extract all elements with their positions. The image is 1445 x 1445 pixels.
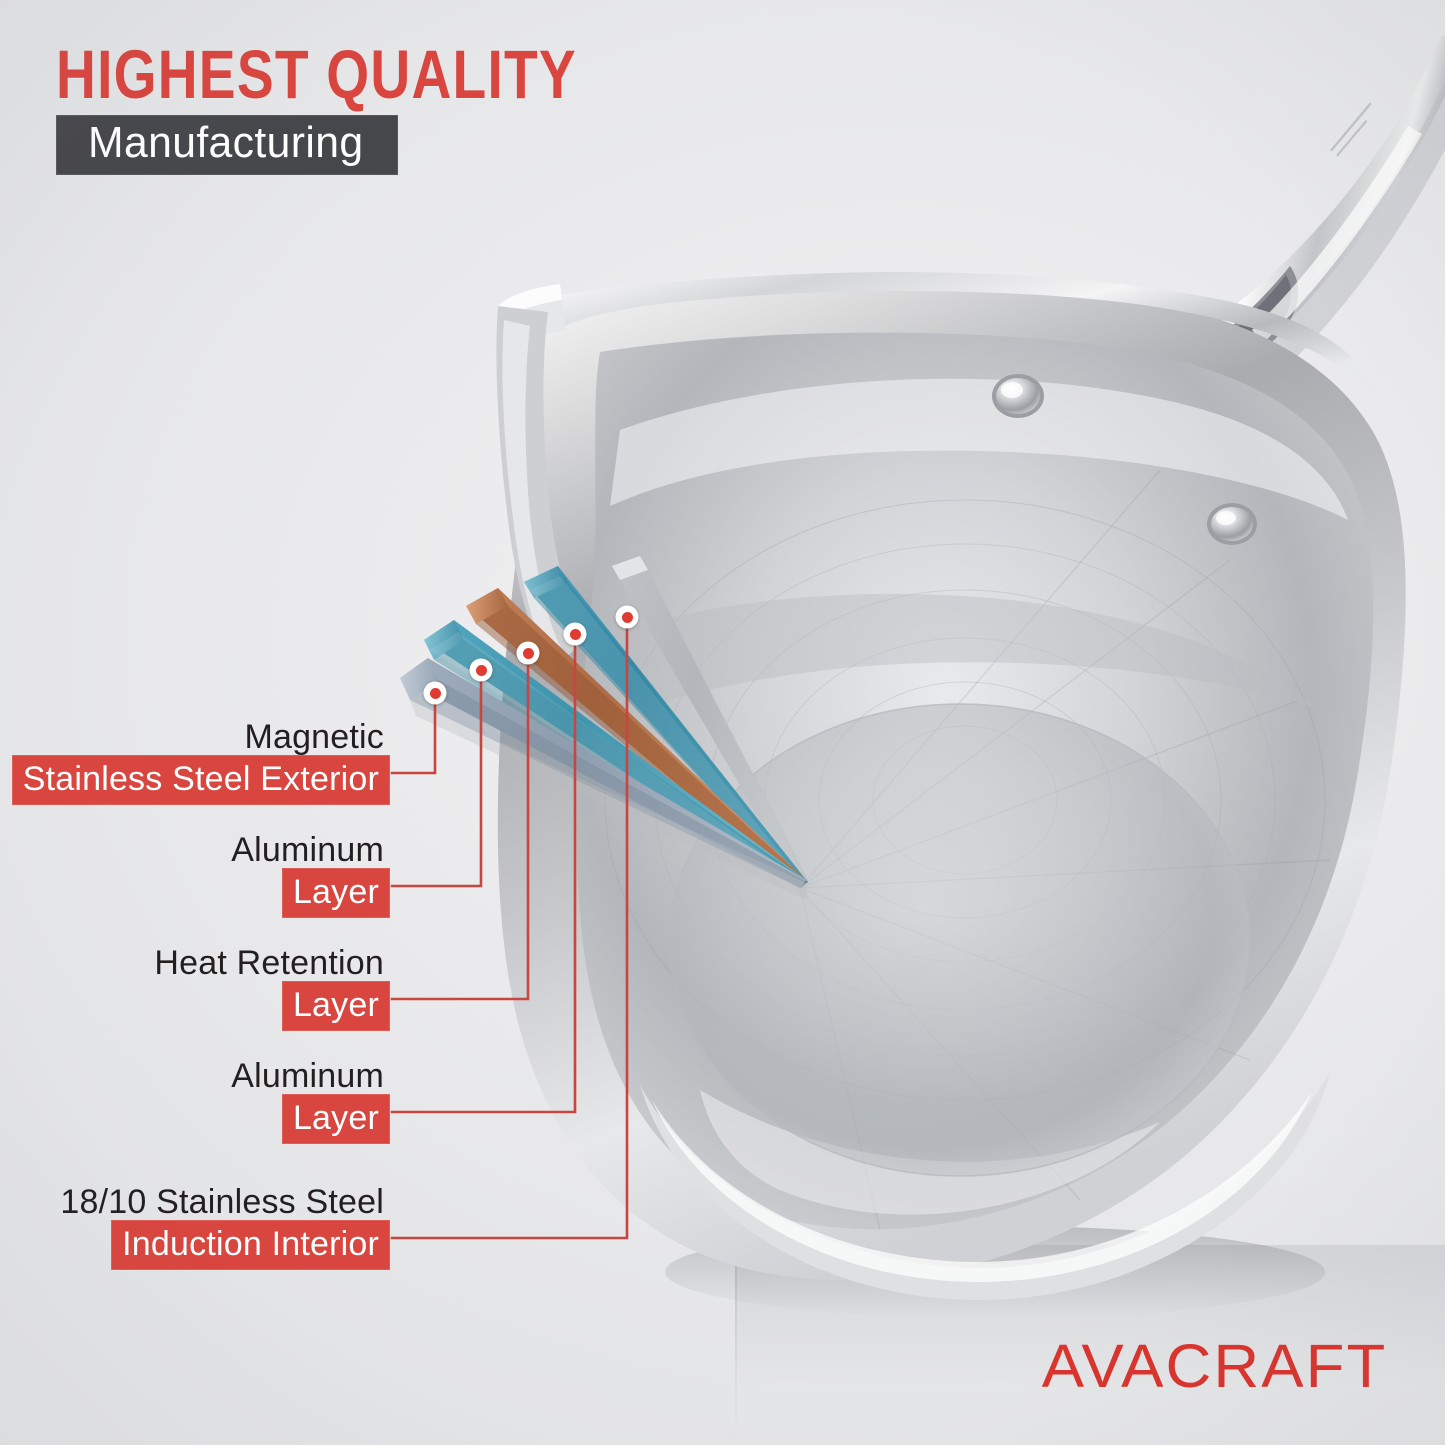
callout-label-magnetic-exterior: Magnetic Stainless Steel Exterior <box>12 720 390 805</box>
headline-secondary-box: Manufacturing <box>56 115 398 174</box>
callout-line2: Layer <box>282 981 390 1031</box>
header-block: HIGHEST QUALITY Manufacturing <box>56 42 707 175</box>
callout-label-aluminum-outer: Aluminum Layer <box>231 833 390 918</box>
callout-line2: Layer <box>282 868 390 918</box>
callout-line1: Magnetic <box>12 720 390 754</box>
callout-dot-aluminum-outer[interactable] <box>470 659 493 682</box>
callout-dot-induction-interior[interactable] <box>616 606 639 629</box>
callout-line1: Aluminum <box>231 833 390 867</box>
callout-line2: Stainless Steel Exterior <box>12 755 390 805</box>
headline-primary: HIGHEST QUALITY <box>56 42 577 108</box>
infographic-canvas: HIGHEST QUALITY Manufacturing Magnetic S… <box>0 0 1445 1445</box>
callout-label-induction-interior: 18/10 Stainless Steel Induction Interior <box>60 1185 390 1270</box>
callout-label-aluminum-inner: Aluminum Layer <box>231 1059 390 1144</box>
callout-line2: Induction Interior <box>111 1220 390 1270</box>
callout-line2: Layer <box>282 1094 390 1144</box>
callout-line1: 18/10 Stainless Steel <box>60 1185 390 1219</box>
headline-secondary: Manufacturing <box>88 120 364 165</box>
callout-dot-aluminum-inner[interactable] <box>564 623 587 646</box>
callout-dot-magnetic-exterior[interactable] <box>424 682 447 705</box>
callout-line1: Aluminum <box>231 1059 390 1093</box>
callout-dot-heat-retention[interactable] <box>517 642 540 665</box>
rivet-upper <box>992 374 1044 418</box>
avacraft-logo: AVACRAFT <box>1041 1331 1387 1401</box>
callout-label-heat-retention: Heat Retention Layer <box>154 946 390 1031</box>
rivet-lower <box>1207 503 1257 545</box>
callout-line1: Heat Retention <box>154 946 390 980</box>
